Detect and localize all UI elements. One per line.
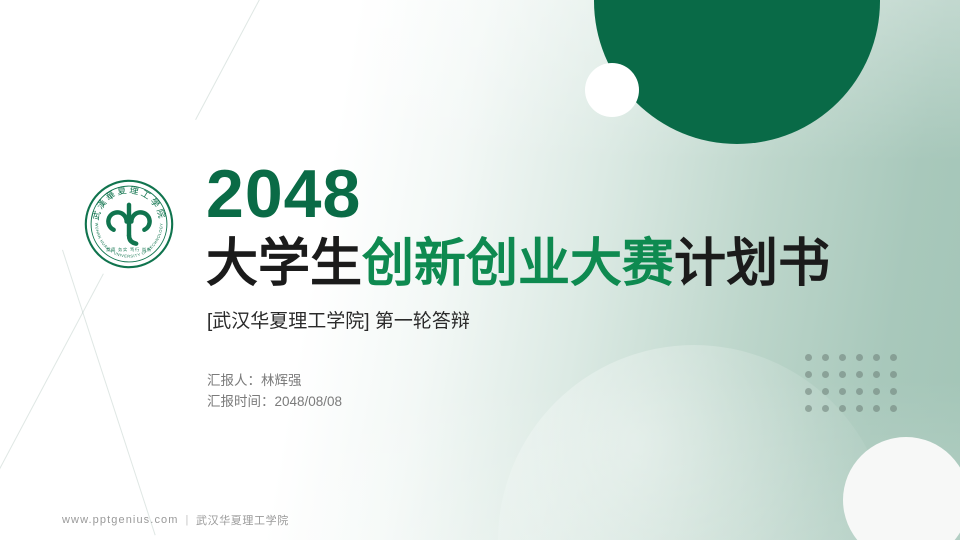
presentation-slide: 武漢華夏理工學院 WUHAN HUAXIA UNIVERSITY OF TECH…	[0, 0, 960, 540]
grid-dot	[856, 388, 863, 395]
grid-dot	[805, 371, 812, 378]
grid-dot	[873, 405, 880, 412]
grid-dot	[873, 371, 880, 378]
footer-organization: 武汉华夏理工学院	[196, 512, 289, 528]
grid-dot	[856, 354, 863, 361]
presenter-name: 汇报人：林辉强	[207, 370, 342, 391]
title-part-students: 大学生	[206, 235, 362, 293]
decorative-white-dot-top	[585, 63, 639, 117]
footer-separator: |	[186, 514, 189, 526]
decorative-dot-grid	[805, 354, 907, 422]
grid-dot	[822, 405, 829, 412]
title-part-competition: 创新创业大赛	[362, 235, 674, 293]
title-part-plan: 计划书	[674, 235, 830, 293]
grid-dot	[839, 405, 846, 412]
grid-dot	[822, 354, 829, 361]
grid-dot	[839, 371, 846, 378]
svg-text:崇德 务实 笃行 尚新: 崇德 务实 笃行 尚新	[106, 246, 152, 253]
grid-dot	[890, 354, 897, 361]
subtitle: [武汉华夏理工学院] 第一轮答辩	[207, 306, 470, 333]
footer-website: www.pptgenius.com	[62, 514, 179, 526]
grid-dot	[822, 388, 829, 395]
presentation-meta: 汇报人：林辉强 汇报时间：2048/08/08	[207, 370, 342, 412]
footer: www.pptgenius.com | 武汉华夏理工学院	[62, 512, 289, 528]
grid-dot	[822, 371, 829, 378]
year-heading: 2048	[206, 160, 361, 228]
grid-dot	[890, 388, 897, 395]
grid-dot	[856, 371, 863, 378]
grid-dot	[839, 388, 846, 395]
grid-dot	[839, 354, 846, 361]
report-date: 汇报时间：2048/08/08	[207, 391, 342, 412]
grid-dot	[890, 405, 897, 412]
grid-dot	[805, 405, 812, 412]
page-title: 大学生创新创业大赛计划书	[206, 238, 830, 290]
grid-dot	[873, 388, 880, 395]
grid-dot	[890, 371, 897, 378]
grid-dot	[805, 354, 812, 361]
grid-dot	[805, 388, 812, 395]
university-logo: 武漢華夏理工學院 WUHAN HUAXIA UNIVERSITY OF TECH…	[73, 168, 185, 280]
university-emblem-icon: 武漢華夏理工學院 WUHAN HUAXIA UNIVERSITY OF TECH…	[81, 176, 177, 272]
grid-dot	[873, 354, 880, 361]
grid-dot	[856, 405, 863, 412]
